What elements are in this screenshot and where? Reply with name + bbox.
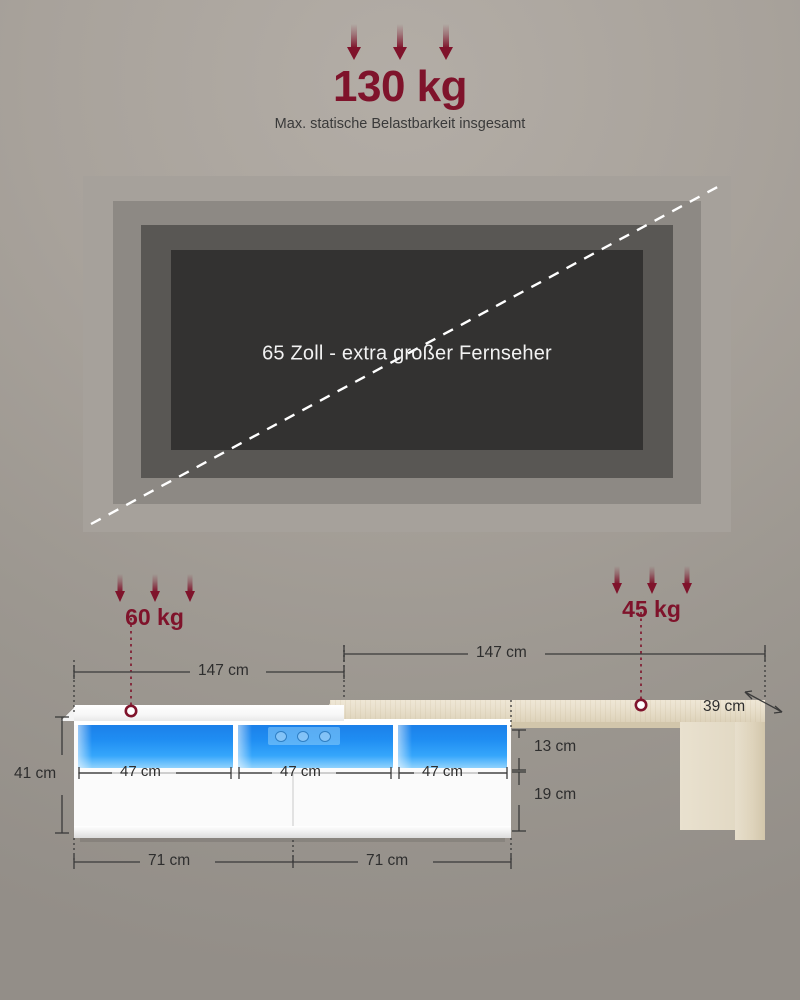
dim-width-shelf: 147 cm (476, 644, 527, 662)
dim-compartment-3: 47 cm (422, 763, 463, 780)
dim-drawer-2: 71 cm (366, 852, 408, 870)
dim-drawer-1: 71 cm (148, 852, 190, 870)
load-point-marker-shelf (636, 700, 646, 710)
dim-depth: 39 cm (703, 698, 745, 716)
dim-width-cabinet: 147 cm (198, 662, 249, 680)
dim-open-shelf-height: 13 cm (534, 738, 576, 756)
dim-compartment-1: 47 cm (120, 763, 161, 780)
infographic-canvas: 130 kg Max. statische Belastbarkeit insg… (0, 0, 800, 1000)
dim-compartment-2: 47 cm (280, 763, 321, 780)
dim-height-total: 41 cm (14, 765, 56, 783)
load-point-marker-cabinet (126, 706, 136, 716)
dimension-overlay (0, 0, 800, 1000)
dim-drawer-height: 19 cm (534, 786, 576, 804)
